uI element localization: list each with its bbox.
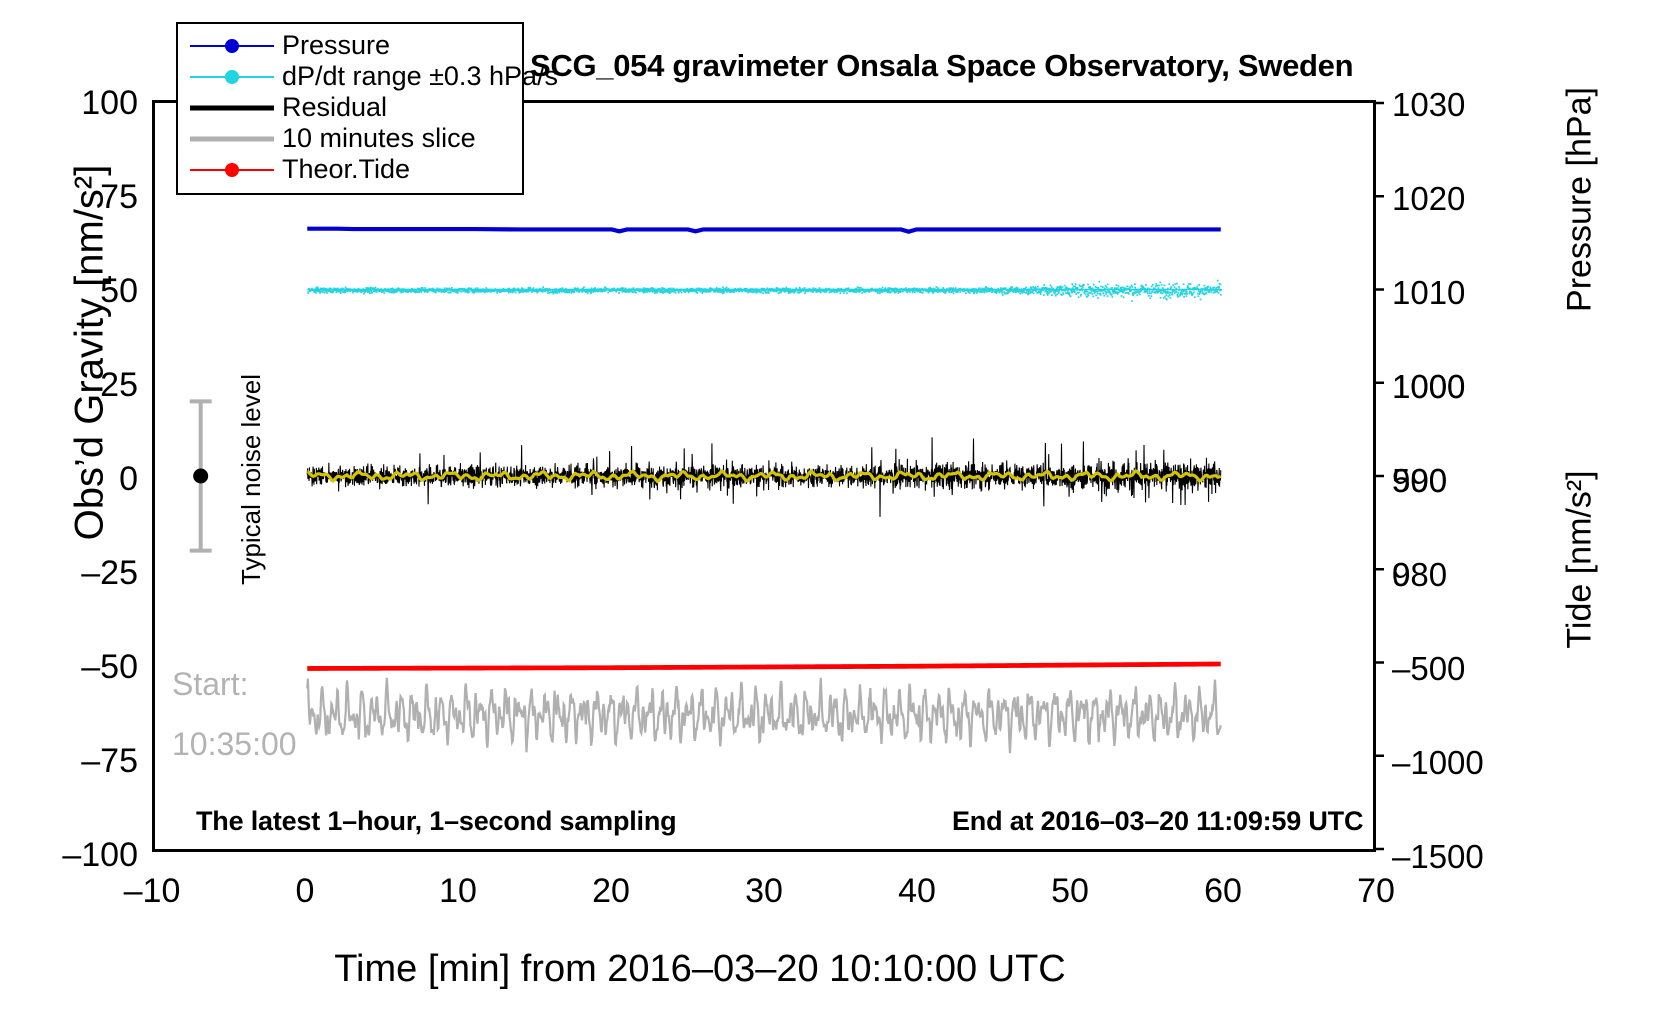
residual-line-icon	[186, 92, 278, 123]
slice-line-icon	[186, 123, 278, 154]
y-tick-pressure-0: 1030	[1392, 86, 1465, 124]
y-axis-label-pressure: Pressure [hPa]	[1561, 40, 1600, 360]
x-tick-4: 30	[704, 872, 824, 911]
y-tick-left-3: 25	[18, 366, 138, 405]
x-tick-6: 50	[1010, 872, 1130, 911]
y-tick-pressure-2: 1010	[1392, 274, 1465, 312]
tide-line-icon	[186, 154, 278, 185]
y-tick-tide-4: –1000	[1392, 744, 1484, 782]
x-tick-5: 40	[857, 872, 977, 911]
x-tick-2: 10	[398, 872, 518, 911]
legend-label-pressure: Pressure	[278, 30, 390, 61]
y-tick-left-0: 100	[18, 84, 138, 123]
y-tick-left-5: –25	[18, 554, 138, 593]
x-axis-label: Time [min] from 2016–03–20 10:10:00 UTC	[0, 948, 1400, 991]
x-tick-1: 0	[245, 872, 365, 911]
x-tick-7: 60	[1163, 872, 1283, 911]
y-tick-tide-1: 500	[1392, 462, 1447, 500]
y-tick-pressure-1: 1020	[1392, 180, 1465, 218]
series-theor-tide	[307, 664, 1221, 668]
y-tick-left-2: 50	[18, 272, 138, 311]
y-tick-tide-2: 0	[1392, 556, 1410, 594]
sampling-note: The latest 1–hour, 1–second sampling	[196, 806, 676, 837]
start-label: Start:	[172, 666, 248, 703]
series-dpdt-scatter	[307, 280, 1222, 302]
typical-noise-errorbar	[190, 401, 212, 550]
y-tick-tide-5: –1500	[1392, 838, 1484, 876]
y-tick-tide-0: 1000	[1392, 368, 1465, 406]
series-10-minutes-slice	[307, 678, 1221, 753]
y-tick-tide-3: –500	[1392, 650, 1465, 688]
y-axis-label-tide: Tide [nm/s²]	[1561, 400, 1600, 720]
plot-area	[152, 100, 1376, 852]
y-tick-left-7: –75	[18, 742, 138, 781]
y-tick-left-4: 0	[18, 460, 138, 499]
legend-label-residual: Residual	[278, 92, 387, 123]
series-pressure	[307, 229, 1221, 232]
legend: Pressure dP/dt range ±0.3 hPa/s Residual…	[176, 22, 524, 195]
legend-item-residual[interactable]: Residual	[186, 92, 512, 123]
x-tick-3: 20	[551, 872, 671, 911]
legend-label-slice: 10 minutes slice	[278, 123, 476, 154]
y-axis-label-left: Obs’d Gravity [nm/s²]	[68, 93, 113, 613]
y-tick-left-1: 75	[18, 178, 138, 217]
page-title: SCG_054 gravimeter Onsala Space Observat…	[530, 48, 1353, 84]
y-tick-left-6: –50	[18, 648, 138, 687]
start-time-label: 10:35:00	[172, 726, 297, 763]
legend-item-slice[interactable]: 10 minutes slice	[186, 123, 512, 154]
y-tick-left-8: –100	[18, 836, 138, 875]
legend-label-tide: Theor.Tide	[278, 154, 410, 185]
legend-item-pressure[interactable]: Pressure	[186, 30, 512, 61]
legend-item-tide[interactable]: Theor.Tide	[186, 154, 512, 185]
dpdt-line-icon	[186, 61, 278, 92]
x-tick-0: –10	[92, 872, 212, 911]
legend-item-dpdt[interactable]: dP/dt range ±0.3 hPa/s	[186, 61, 512, 92]
x-tick-8: 70	[1316, 872, 1436, 911]
typical-noise-level-label: Typical noise level	[236, 374, 267, 585]
legend-label-dpdt: dP/dt range ±0.3 hPa/s	[278, 61, 558, 92]
pressure-line-icon	[186, 30, 278, 61]
chart-canvas: SCG_054 gravimeter Onsala Space Observat…	[0, 0, 1676, 1020]
end-note: End at 2016–03–20 11:09:59 UTC	[952, 806, 1363, 837]
